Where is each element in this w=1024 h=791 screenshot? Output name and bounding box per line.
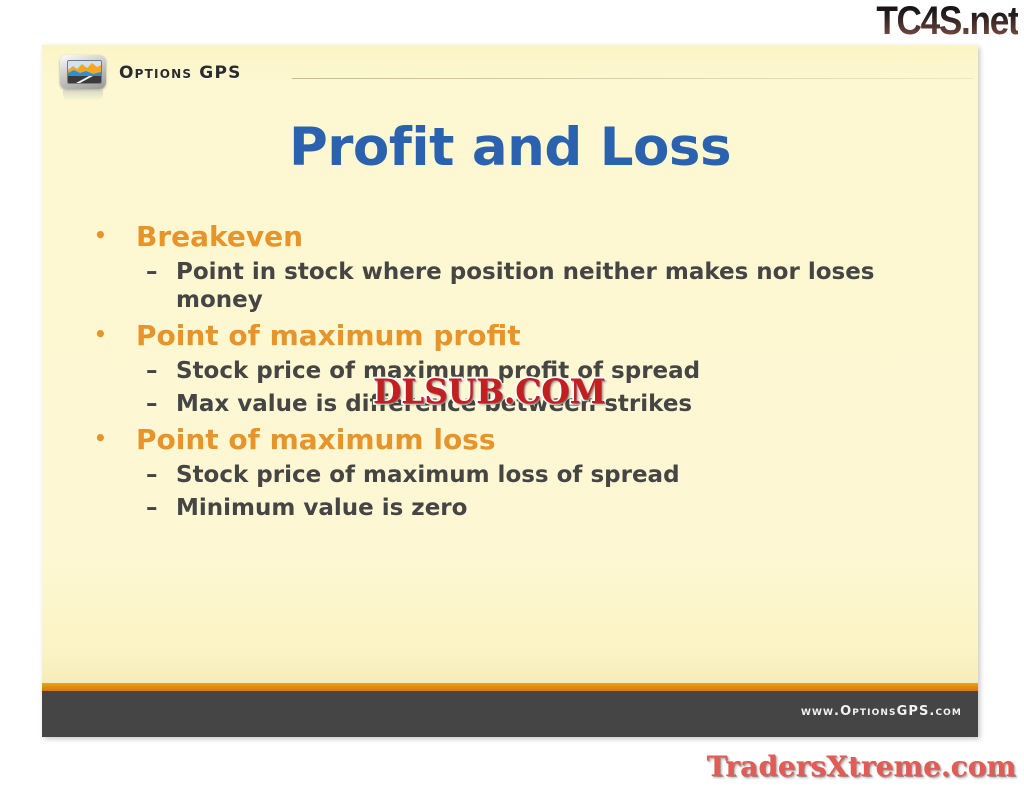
bullet-level2-label: Point in stock where position neither ma… (176, 258, 906, 314)
bullet-group: • Point of maximum loss – Stock price of… (94, 423, 948, 522)
bullet-level1-label: Breakeven (136, 220, 303, 253)
bullet-level2-label: Minimum value is zero (176, 494, 467, 522)
footer-url: www.OptionsGPS.com (801, 704, 962, 719)
slide-header: Options GPS (42, 45, 978, 103)
bullet-level1: • Point of maximum loss (94, 423, 948, 456)
gps-screen-chart-icon (68, 61, 101, 83)
dash-marker-icon: – (146, 461, 176, 489)
bullet-marker-icon: • (94, 319, 136, 349)
gps-device-icon (60, 55, 106, 93)
bullet-level2: – Minimum value is zero (146, 494, 948, 522)
dash-marker-icon: – (146, 357, 176, 385)
dash-marker-icon: – (146, 390, 176, 418)
tc4s-branding: TC4S.net (876, 1, 1018, 41)
bullet-marker-icon: • (94, 220, 136, 250)
gps-device-screen (67, 60, 102, 84)
dash-marker-icon: – (146, 494, 176, 522)
watermark-tradersxtreme: TradersXtreme.com (707, 750, 1016, 783)
page-title: Profit and Loss (42, 117, 978, 178)
bullet-level2-label: Stock price of maximum loss of spread (176, 461, 680, 489)
header-divider (292, 78, 973, 79)
watermark-dlsub: DLSUB.COM (373, 372, 606, 412)
gps-device-reflection (63, 90, 103, 101)
logo-text: Options GPS (119, 63, 242, 83)
bullet-level2: – Point in stock where position neither … (146, 258, 948, 314)
slide-footer: www.OptionsGPS.com (42, 691, 978, 737)
footer-accent-stripe (42, 683, 978, 691)
bullet-level2: – Stock price of maximum loss of spread (146, 461, 948, 489)
dash-marker-icon: – (146, 258, 176, 286)
bullet-level1-label: Point of maximum profit (136, 319, 521, 352)
bullet-level1: • Point of maximum profit (94, 319, 948, 352)
bullet-level1: • Breakeven (94, 220, 948, 253)
bullet-group: • Breakeven – Point in stock where posit… (94, 220, 948, 314)
bullet-marker-icon: • (94, 423, 136, 453)
bullet-level1-label: Point of maximum loss (136, 423, 496, 456)
